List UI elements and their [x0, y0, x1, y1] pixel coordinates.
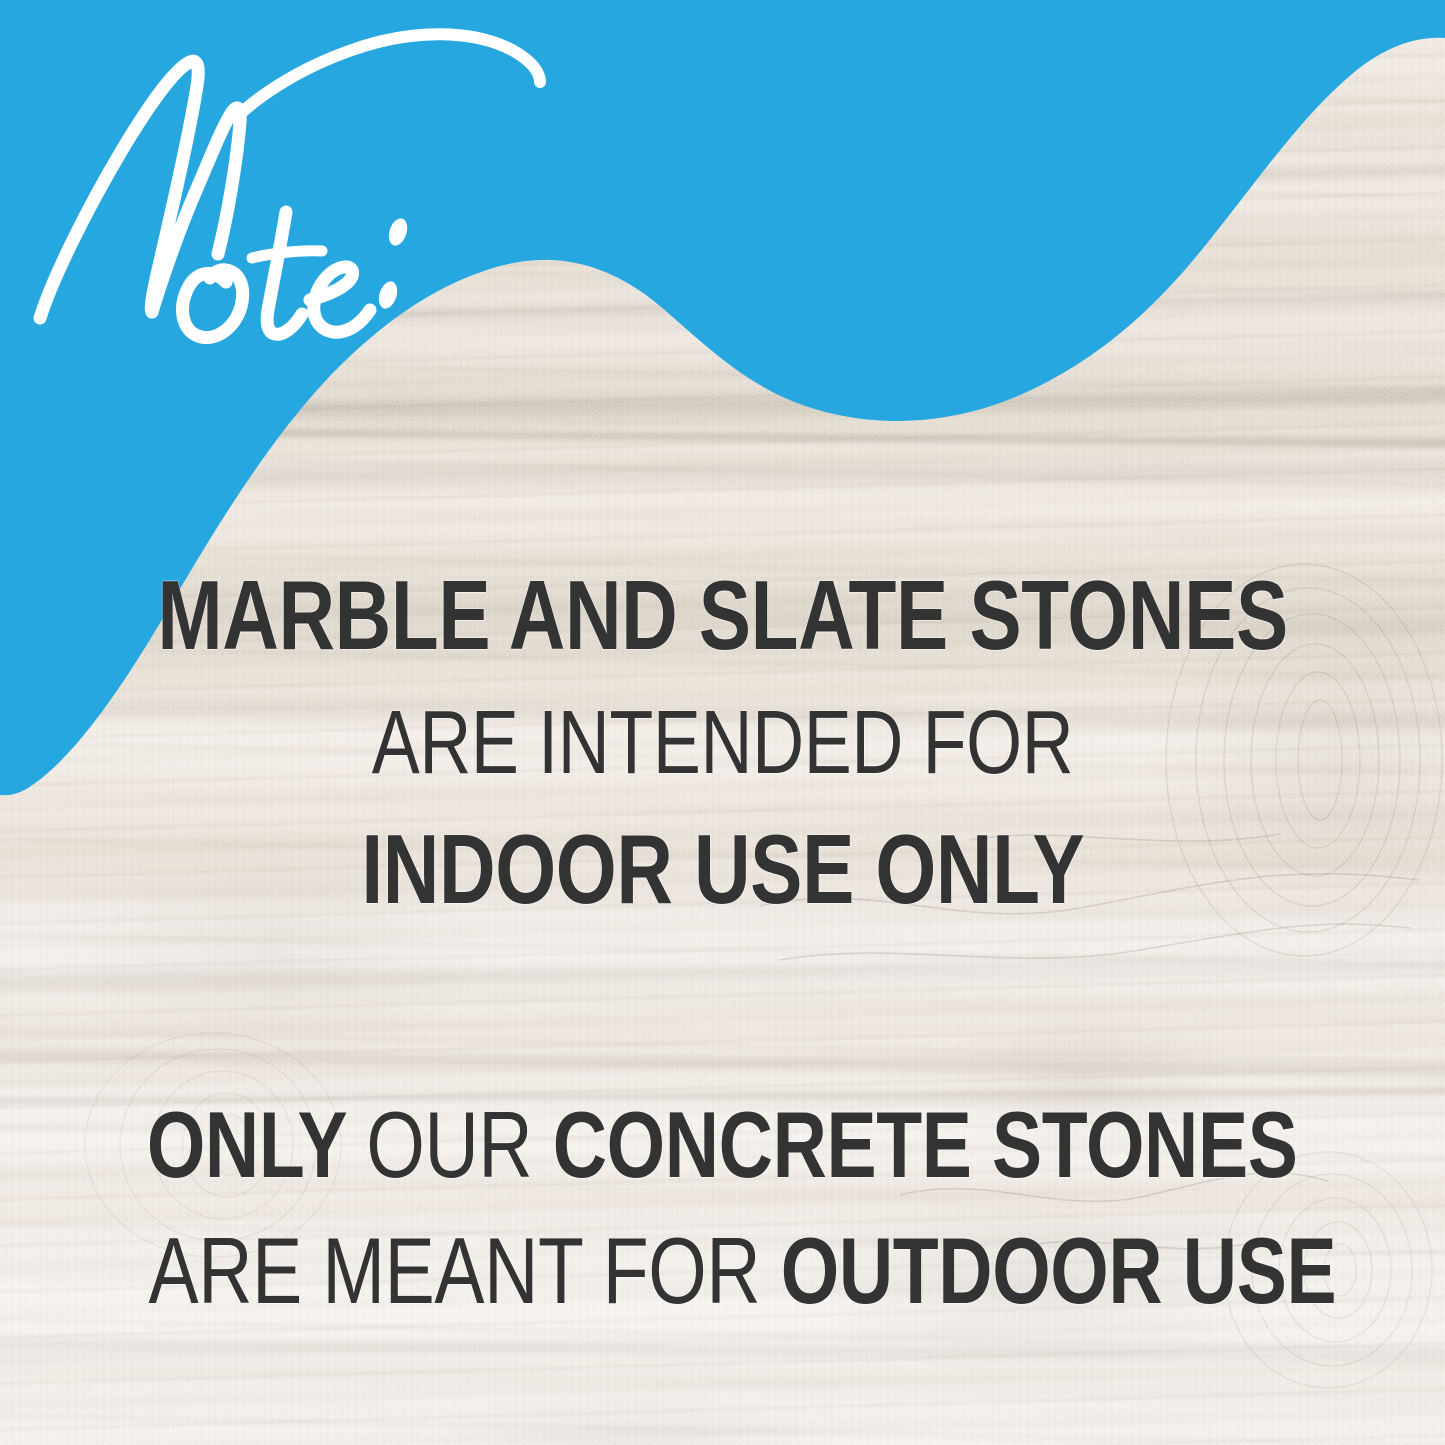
- segment-our: OUR: [367, 1092, 553, 1197]
- segment-concrete-stones: CONCRETE STONES: [553, 1092, 1298, 1197]
- segment-are-meant-for: ARE MEANT FOR: [148, 1218, 780, 1323]
- headline-only-our-concrete-stones: ONLY OUR CONCRETE STONES: [0, 1098, 1445, 1192]
- subline-are-intended-for: ARE INTENDED FOR: [0, 698, 1445, 788]
- headline-are-meant-for-outdoor-use: ARE MEANT FOR OUTDOOR USE: [0, 1224, 1445, 1318]
- segment-outdoor-use: OUTDOOR USE: [781, 1218, 1336, 1323]
- lower-message-block: ONLY OUR CONCRETE STONES ARE MEANT FOR O…: [0, 1098, 1445, 1318]
- upper-message-block: MARBLE AND SLATE STONES ARE INTENDED FOR…: [0, 566, 1445, 918]
- headline-marble-slate-stones: MARBLE AND SLATE STONES: [0, 566, 1445, 664]
- headline-indoor-use-only: INDOOR USE ONLY: [0, 820, 1445, 918]
- segment-only: ONLY: [147, 1092, 367, 1197]
- poster-canvas: MARBLE AND SLATE STONES ARE INTENDED FOR…: [0, 0, 1445, 1445]
